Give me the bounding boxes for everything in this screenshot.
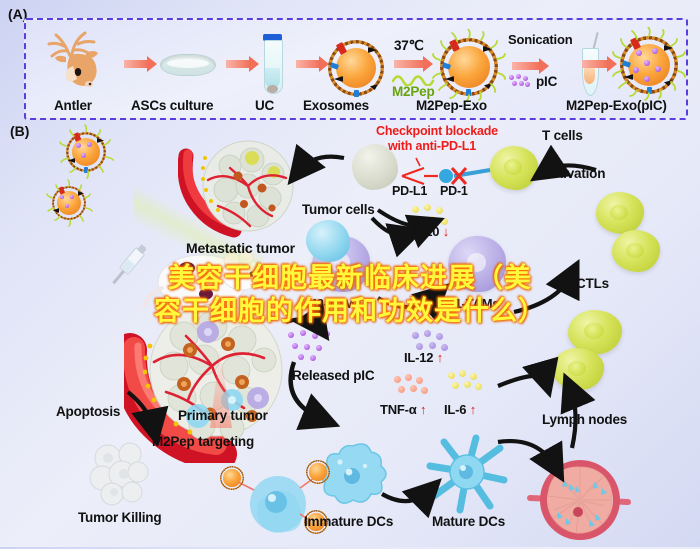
tnf-alpha-cytokine-cluster — [392, 374, 434, 398]
tnf-alpha-label: TNF-α — [380, 402, 417, 417]
mature-dcs-label: Mature DCs — [432, 514, 505, 529]
targeting-exosome-2 — [306, 460, 330, 484]
tumor-cells-label: Tumor cells — [302, 202, 375, 217]
pic-label: pIC — [536, 74, 557, 89]
m1-tams-label: M1-TAMs — [444, 296, 499, 311]
primary-tumor-label: Primary tumor — [178, 408, 268, 423]
process-arrow-1 — [124, 60, 148, 68]
figure-root: (A) — [0, 0, 700, 547]
injected-exosome-icon-1 — [66, 132, 106, 172]
process-arrow-3 — [296, 60, 320, 68]
step-label-uc: UC — [255, 98, 274, 113]
il-6-group: IL-6 ↑ — [444, 402, 476, 417]
t-cell-icon — [490, 146, 538, 190]
step-label-ascs-culture: ASCs culture — [131, 98, 213, 113]
activated-t-cell-icon-2 — [612, 230, 660, 272]
temperature-label: 37℃ — [394, 38, 424, 54]
m2-tams-label: M2-TAMs — [306, 296, 361, 311]
injected-exosome-icon-2 — [52, 186, 86, 220]
activated-t-cell-icon-1 — [596, 192, 644, 234]
il-12-group: IL-12 ↑ — [404, 350, 443, 365]
metastatic-tumor-icon — [178, 128, 304, 240]
immature-dcs-label: Immature DCs — [304, 514, 393, 529]
tnf-alpha-up-arrow: ↑ — [420, 402, 426, 417]
il-10-label: IL-10 — [410, 224, 439, 239]
m2pep-targeting-label: M2Pep targeting — [152, 434, 254, 449]
ctl-cell-icon-2 — [552, 348, 604, 390]
step-label-exosomes: Exosomes — [303, 98, 369, 113]
panel-a-exosome-preparation: 37℃ M2Pep — [24, 18, 688, 120]
checkpoint-blockade-line1: Checkpoint blockade — [376, 124, 498, 138]
ctls-label: CTLs — [576, 276, 609, 291]
tumor-killing-label: Tumor Killing — [78, 510, 161, 525]
process-arrow-6 — [582, 60, 608, 68]
il-6-label: IL-6 — [444, 402, 466, 417]
pic-molecule-icon — [508, 74, 532, 88]
exosome-vesicle-icon — [328, 40, 384, 96]
il-12-label: IL-12 — [404, 350, 433, 365]
tnf-alpha-group: TNF-α ↑ — [380, 402, 426, 417]
il-10-down-arrow: ↓ — [443, 224, 449, 239]
panel-b-mechanism: Metastatic tumor Tumor cells Checkpoint … — [0, 118, 700, 547]
mature-dc-icon — [424, 432, 510, 516]
pd-1-label: PD-1 — [440, 184, 468, 198]
pd-l1-label: PD-L1 — [392, 184, 427, 198]
pic-loaded-exosome-icon — [620, 36, 678, 94]
process-arrow-4 — [394, 60, 424, 68]
checkpoint-blockade-line2: with anti-PD-L1 — [388, 139, 476, 153]
t-cells-label: T cells — [542, 128, 583, 143]
il-12-up-arrow: ↑ — [437, 350, 443, 365]
il-6-cytokine-cluster — [446, 370, 488, 394]
m1-tam-icon — [448, 236, 506, 292]
released-pic-cluster — [286, 330, 338, 362]
step-label-m2pep-exo-pic: M2Pep-Exo(pIC) — [566, 98, 667, 113]
activation-label: Activation — [542, 166, 605, 181]
peptide-modified-exosome-icon — [440, 38, 498, 96]
released-pic-label: Released pIC — [292, 368, 374, 383]
process-arrow-5 — [512, 62, 540, 70]
centrifuge-tube-icon — [262, 34, 284, 96]
apoptosis-label: Apoptosis — [56, 404, 120, 419]
targeting-exosome-1 — [220, 466, 244, 490]
process-arrow-2 — [226, 60, 250, 68]
il-6-up-arrow: ↑ — [470, 402, 476, 417]
m2pep-label: M2Pep — [392, 84, 435, 99]
tumor-macrophage-icon — [306, 220, 350, 262]
il-10-group: IL-10 ↓ — [410, 224, 449, 239]
step-label-m2pep-exo: M2Pep-Exo — [416, 98, 487, 113]
step-label-antler: Antler — [54, 98, 92, 113]
deer-antler-icon — [40, 26, 120, 94]
lymph-nodes-icon — [524, 456, 638, 544]
metastatic-tumor-label: Metastatic tumor — [186, 240, 295, 256]
apoptotic-tumor-icon — [82, 436, 158, 508]
lymph-nodes-label: Lymph nodes — [542, 412, 627, 427]
sonication-label: Sonication — [508, 32, 572, 47]
